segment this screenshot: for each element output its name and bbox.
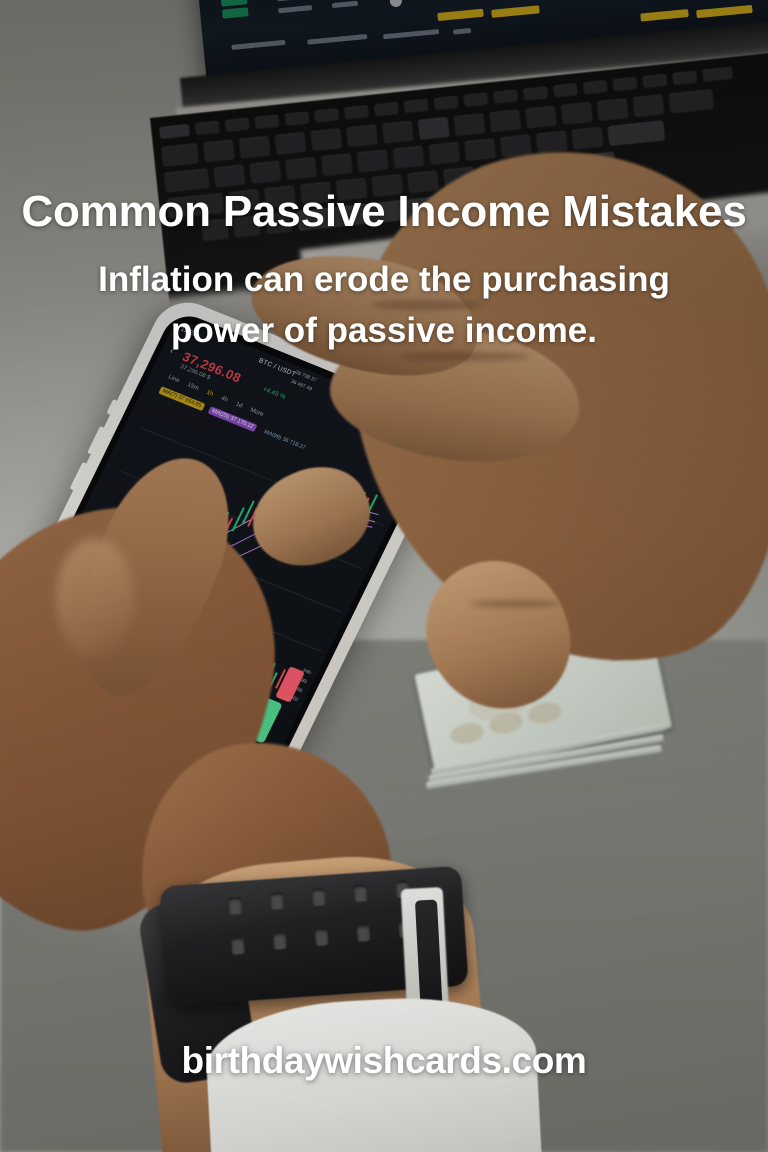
- card-subtitle: Inflation can erode the purchasing power…: [84, 254, 684, 356]
- pinterest-quote-card: 100 12:23 BTC / USDT: [0, 0, 768, 1152]
- site-url: birthdaywishcards.com: [0, 1040, 768, 1082]
- text-overlay: Common Passive Income Mistakes Inflation…: [0, 0, 768, 1152]
- card-title: Common Passive Income Mistakes: [0, 186, 768, 238]
